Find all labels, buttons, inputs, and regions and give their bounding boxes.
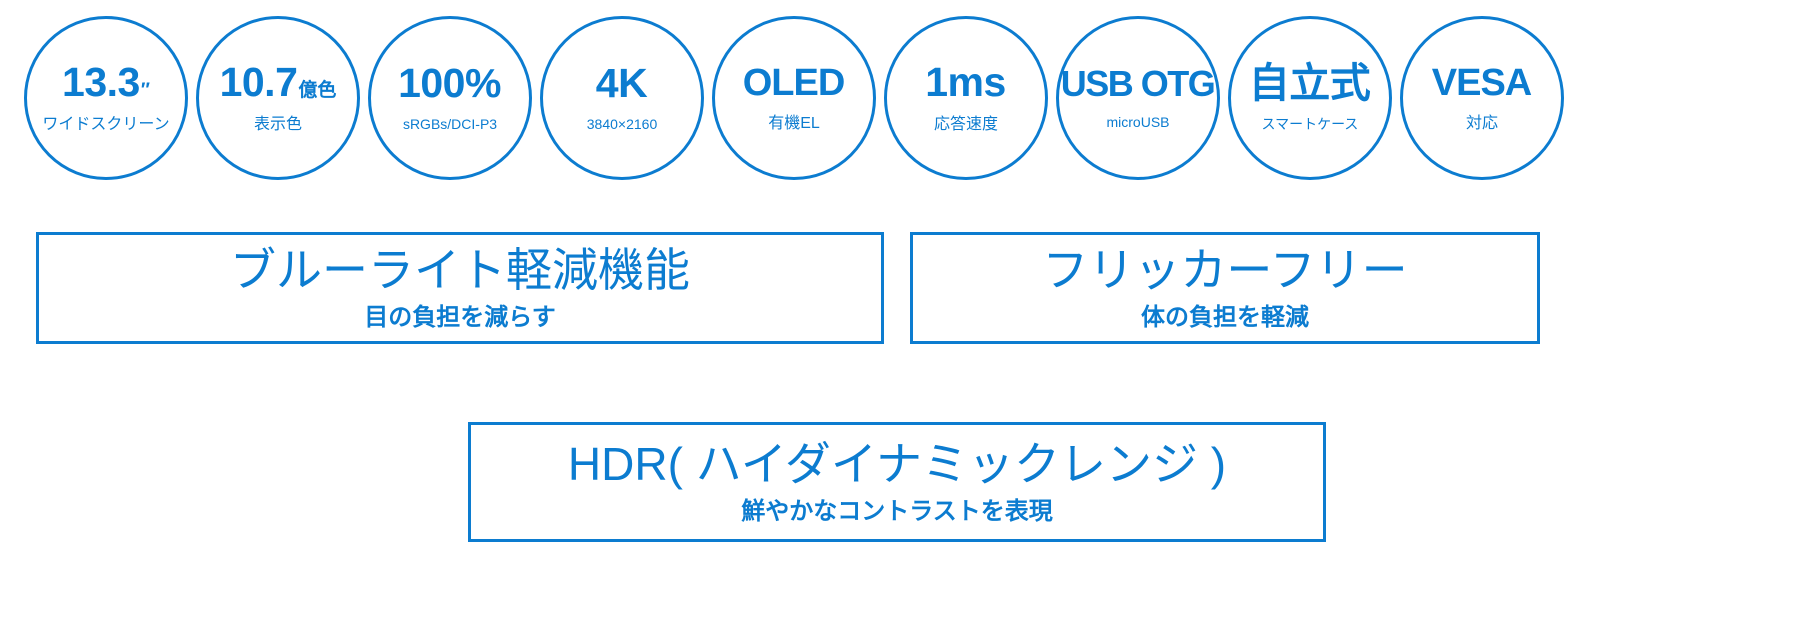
spec-circle-caption: スマートケース: [1262, 117, 1359, 132]
spec-circle-unit: ″: [141, 81, 150, 100]
spec-circle-caption: 対応: [1466, 115, 1498, 133]
spec-circle-vesa: VESA 対応: [1400, 16, 1564, 180]
spec-circle-headline: 10.7億色: [220, 62, 337, 103]
feature-box-title: ブルーライト軽減機能: [230, 245, 690, 297]
spec-circle-value: VESA: [1432, 64, 1531, 102]
spec-circle-usb-otg: USB OTG microUSB: [1056, 16, 1220, 180]
spec-circle-caption: 表示色: [254, 116, 302, 134]
spec-circle-response-time: 1ms 応答速度: [884, 16, 1048, 180]
spec-circle-headline: 4K: [596, 63, 648, 104]
feature-box-content: HDR( ハイダイナミックレンジ ) 鮮やかなコントラストを表現: [568, 439, 1226, 526]
feature-box-subtitle: 体の負担を軽減: [1141, 305, 1309, 331]
spec-circle-panel-type: OLED 有機EL: [712, 16, 876, 180]
spec-sheet: 13.3″ ワイドスクリーン 10.7億色 表示色 100% sRGBs/DCI…: [0, 0, 1800, 639]
feature-box-subtitle: 鮮やかなコントラストを表現: [741, 499, 1053, 525]
feature-box-bluelight: ブルーライト軽減機能 目の負担を減らす: [36, 232, 884, 344]
spec-circle-caption: ワイドスクリーン: [42, 116, 169, 134]
spec-circle-headline: OLED: [743, 64, 846, 102]
spec-circle-caption: sRGBs/DCI-P3: [403, 117, 497, 132]
spec-circle-value: 4K: [596, 63, 647, 104]
spec-circle-headline: 13.3″: [62, 62, 150, 103]
spec-circle-headline: 100%: [398, 63, 502, 104]
spec-circle-color-gamut: 100% sRGBs/DCI-P3: [368, 16, 532, 180]
feature-box-subtitle: 目の負担を減らす: [364, 305, 556, 331]
spec-circle-headline: USB OTG: [1061, 66, 1216, 102]
spec-circle-headline: 1ms: [925, 62, 1007, 103]
spec-circle-color-depth: 10.7億色 表示色: [196, 16, 360, 180]
spec-circle-value: 1ms: [925, 62, 1006, 103]
spec-circle-stand: 自立式 スマートケース: [1228, 16, 1392, 180]
spec-circle-caption: microUSB: [1106, 115, 1169, 130]
spec-circle-caption: 3840×2160: [587, 117, 657, 132]
feature-box-title: フリッカーフリー: [1042, 245, 1407, 297]
spec-circle-value: 自立式: [1249, 63, 1371, 104]
spec-circle-value: OLED: [743, 64, 845, 102]
feature-box-content: フリッカーフリー 体の負担を軽減: [1042, 245, 1407, 332]
spec-circle-value: 10.7: [220, 62, 298, 103]
feature-box-flicker-free: フリッカーフリー 体の負担を軽減: [910, 232, 1540, 344]
spec-circle-headline: 自立式: [1249, 63, 1372, 104]
feature-box-content: ブルーライト軽減機能 目の負担を減らす: [230, 245, 690, 332]
feature-box-hdr: HDR( ハイダイナミックレンジ ) 鮮やかなコントラストを表現: [468, 422, 1326, 542]
spec-circle-row: 13.3″ ワイドスクリーン 10.7億色 表示色 100% sRGBs/DCI…: [24, 16, 1784, 184]
spec-circle-headline: VESA: [1432, 64, 1532, 102]
spec-circle-screen-size: 13.3″ ワイドスクリーン: [24, 16, 188, 180]
spec-circle-value: USB OTG: [1061, 66, 1215, 102]
spec-circle-unit: 億色: [298, 81, 336, 100]
spec-circle-caption: 有機EL: [768, 115, 820, 133]
spec-circle-resolution: 4K 3840×2160: [540, 16, 704, 180]
spec-circle-value: 13.3: [62, 62, 140, 103]
spec-circle-value: 100%: [398, 63, 501, 104]
spec-circle-caption: 応答速度: [934, 116, 998, 134]
feature-box-title: HDR( ハイダイナミックレンジ ): [568, 439, 1226, 491]
